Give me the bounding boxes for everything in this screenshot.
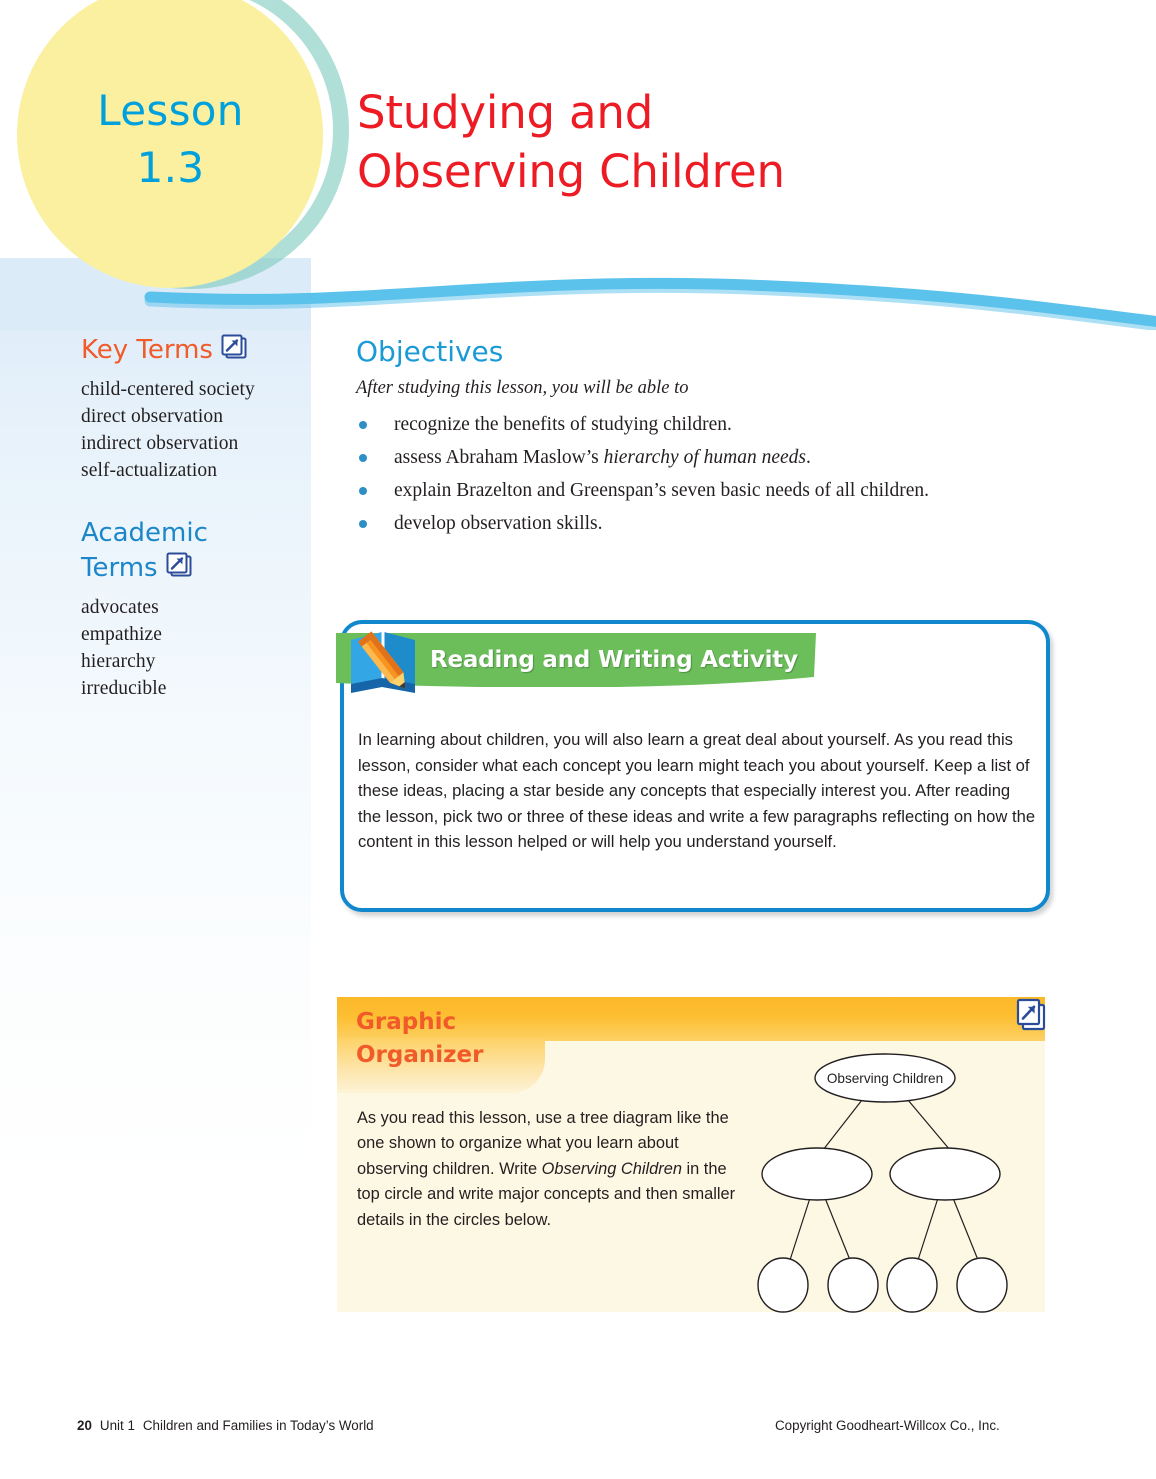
objective-item: develop observation skills. [356, 507, 1056, 540]
key-term-item: indirect observation [81, 430, 311, 457]
key-term-item: child-centered society [81, 376, 311, 403]
page-title: Studying and Observing Children [357, 83, 1057, 201]
lesson-badge: Lesson 1.3 [58, 82, 283, 196]
graphic-organizer-title-line1: Graphic [356, 1006, 586, 1039]
academic-term-item: irreducible [81, 675, 311, 702]
tree-node-level3 [887, 1258, 937, 1312]
academic-terms-heading-label: Terms [81, 553, 158, 583]
lesson-label: Lesson [58, 82, 283, 139]
reading-writing-banner-label: Reading and Writing Activity [430, 645, 830, 675]
objective-text: develop observation skills. [394, 513, 603, 534]
footer-page-number: 20 [77, 1418, 92, 1433]
tree-node-root-label: Observing Children [827, 1071, 943, 1086]
book-pencil-icon [346, 622, 422, 696]
objectives-list: recognize the benefits of studying child… [356, 408, 1056, 540]
tree-node-level3 [957, 1258, 1007, 1312]
objective-text-italic: hierarchy of human needs [604, 447, 806, 468]
tree-node-level3 [828, 1258, 878, 1312]
bullet-icon [359, 520, 367, 528]
graphic-organizer-body-text: As you read this lesson, use a tree diag… [357, 1106, 747, 1233]
academic-terms-list: advocates empathize hierarchy irreducibl… [81, 594, 311, 702]
page-title-line1: Studying and [357, 83, 1057, 142]
lesson-number: 1.3 [58, 139, 283, 196]
bullet-icon [359, 487, 367, 495]
page-footer: 20Unit 1Children and Families in Today’s… [0, 1418, 1156, 1444]
flashcard-link-icon[interactable] [219, 332, 249, 371]
footer-copyright: Copyright Goodheart-Willcox Co., Inc. [775, 1418, 1000, 1433]
academic-term-item: hierarchy [81, 648, 311, 675]
objective-text-post: . [806, 447, 811, 468]
go-text-italic: Observing Children [542, 1160, 682, 1178]
tree-diagram: Observing Children [740, 1038, 1050, 1328]
objectives-section: Objectives After studying this lesson, y… [356, 334, 1056, 540]
bullet-icon [359, 454, 367, 462]
objectives-intro: After studying this lesson, you will be … [356, 375, 1056, 401]
objective-item: explain Brazelton and Greenspan’s seven … [356, 474, 1056, 507]
page-title-line2: Observing Children [357, 142, 1057, 201]
academic-term-item: empathize [81, 621, 311, 648]
graphic-organizer-title: Graphic Organizer [356, 1006, 586, 1072]
key-terms-heading: Key Terms [81, 332, 311, 371]
key-terms-heading-label: Key Terms [81, 335, 213, 365]
key-term-item: direct observation [81, 403, 311, 430]
objective-text: explain Brazelton and Greenspan’s seven … [394, 480, 929, 501]
bullet-icon [359, 421, 367, 429]
sidebar: Key Terms child-centered society direct … [81, 332, 311, 702]
objective-item: assess Abraham Maslow’s hierarchy of hum… [356, 441, 1056, 474]
tree-node-level2 [762, 1148, 872, 1200]
footer-unit: Unit 1 [100, 1418, 135, 1433]
key-term-item: self-actualization [81, 457, 311, 484]
academic-term-item: advocates [81, 594, 311, 621]
flashcard-link-icon[interactable] [1014, 997, 1048, 1038]
academic-terms-heading-line2: Terms [81, 550, 311, 589]
academic-terms-heading-line1: Academic [81, 516, 311, 550]
objective-item: recognize the benefits of studying child… [356, 408, 1056, 441]
key-terms-block: Key Terms child-centered society direct … [81, 332, 311, 484]
graphic-organizer-title-line2: Organizer [356, 1039, 586, 1072]
footer-unit-title: Children and Families in Today’s World [143, 1418, 374, 1433]
academic-terms-block: Academic Terms advocates empathize hiera… [81, 516, 311, 702]
flashcard-link-icon[interactable] [164, 550, 194, 589]
key-terms-list: child-centered society direct observatio… [81, 376, 311, 484]
reading-writing-body-text: In learning about children, you will als… [358, 727, 1036, 855]
objectives-title: Objectives [356, 334, 1056, 370]
objective-text: recognize the benefits of studying child… [394, 414, 732, 435]
footer-left: 20Unit 1Children and Families in Today’s… [77, 1418, 374, 1433]
tree-node-level2 [890, 1148, 1000, 1200]
objective-text: assess Abraham Maslow’s [394, 447, 604, 468]
tree-node-level3 [758, 1258, 808, 1312]
